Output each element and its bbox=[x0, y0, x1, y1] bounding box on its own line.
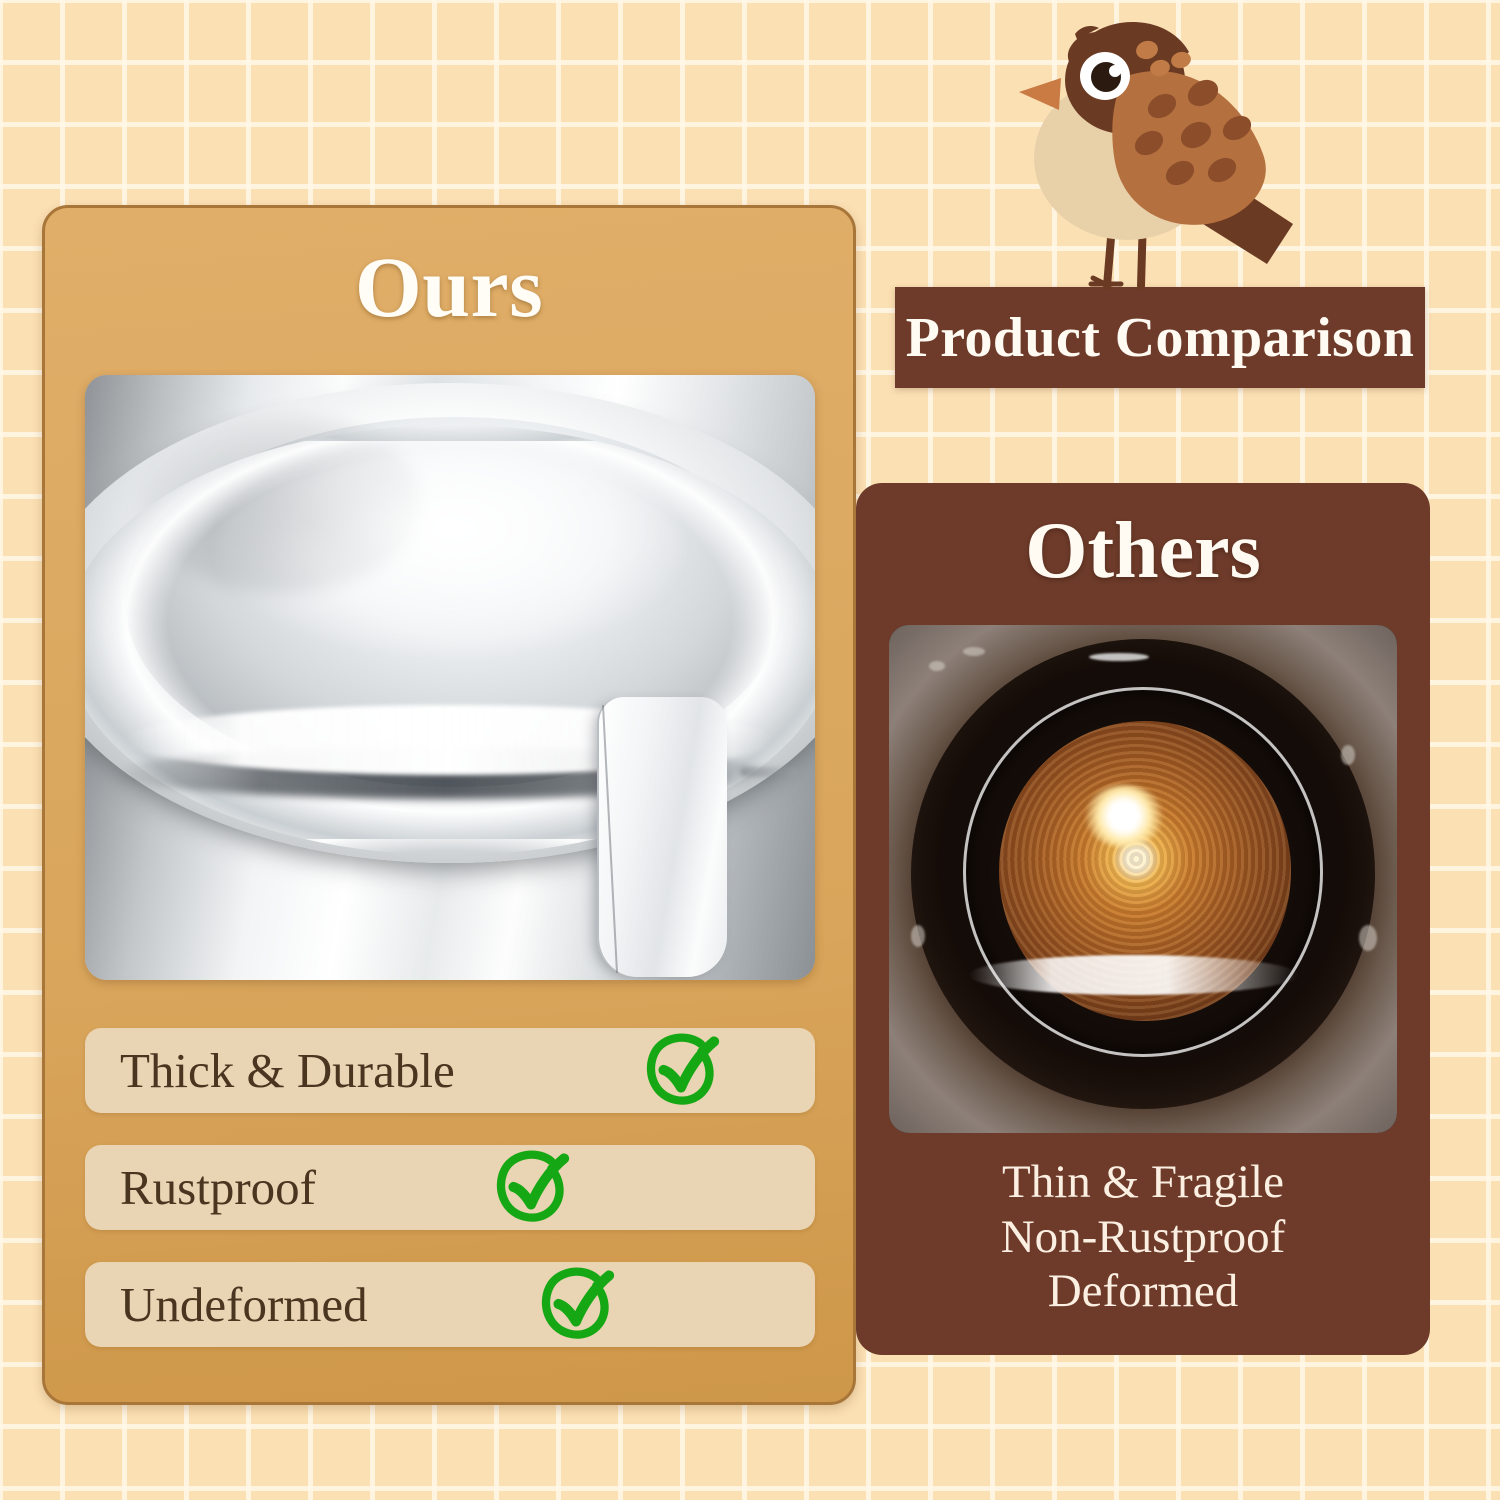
pot-handle-bracket bbox=[597, 697, 727, 977]
green-check-circle-icon bbox=[635, 1024, 727, 1116]
others-drawback-list: Thin & Fragile Non-Rustproof Deformed bbox=[856, 1155, 1430, 1319]
rust-speck bbox=[929, 661, 945, 671]
green-check-circle-icon bbox=[530, 1258, 622, 1350]
green-check-circle-icon bbox=[485, 1141, 577, 1233]
rusty-pot-bottom-highlight bbox=[969, 955, 1299, 995]
feature-row: Undeformed bbox=[85, 1262, 815, 1347]
others-card-title: Others bbox=[856, 511, 1430, 591]
ours-product-photo bbox=[85, 375, 815, 980]
others-comparison-card: Others Thin & Fragile Non-Rustproof Defo… bbox=[856, 483, 1430, 1355]
sparrow-bird-icon bbox=[975, 18, 1305, 290]
feature-row: Thick & Durable bbox=[85, 1028, 815, 1113]
ours-comparison-card: Ours Thick & Durable Rustproof bbox=[42, 205, 856, 1405]
rust-speck bbox=[963, 647, 985, 656]
rusty-pot-top-highlight bbox=[1089, 653, 1149, 661]
ours-card-title: Ours bbox=[45, 244, 853, 330]
rust-speck bbox=[1341, 745, 1355, 765]
rust-speck bbox=[911, 925, 925, 947]
banner-title: Product Comparison bbox=[906, 306, 1415, 370]
rust-speck bbox=[1359, 925, 1377, 951]
others-drawback: Thin & Fragile bbox=[856, 1155, 1430, 1210]
pot-rivet-mark bbox=[740, 767, 798, 777]
product-comparison-banner: Product Comparison bbox=[895, 287, 1425, 388]
ours-feature-list: Thick & Durable Rustproof Undeformed bbox=[85, 1028, 815, 1379]
others-drawback: Non-Rustproof bbox=[856, 1210, 1430, 1265]
feature-label: Thick & Durable bbox=[120, 1042, 455, 1099]
rusty-pot-steel-ring bbox=[963, 687, 1323, 1057]
others-drawback: Deformed bbox=[856, 1264, 1430, 1319]
rusty-pot-light-hotspot bbox=[1085, 785, 1163, 847]
feature-label: Rustproof bbox=[120, 1159, 316, 1216]
feature-label: Undeformed bbox=[120, 1276, 368, 1333]
feature-row: Rustproof bbox=[85, 1145, 815, 1230]
others-product-photo bbox=[889, 625, 1397, 1133]
